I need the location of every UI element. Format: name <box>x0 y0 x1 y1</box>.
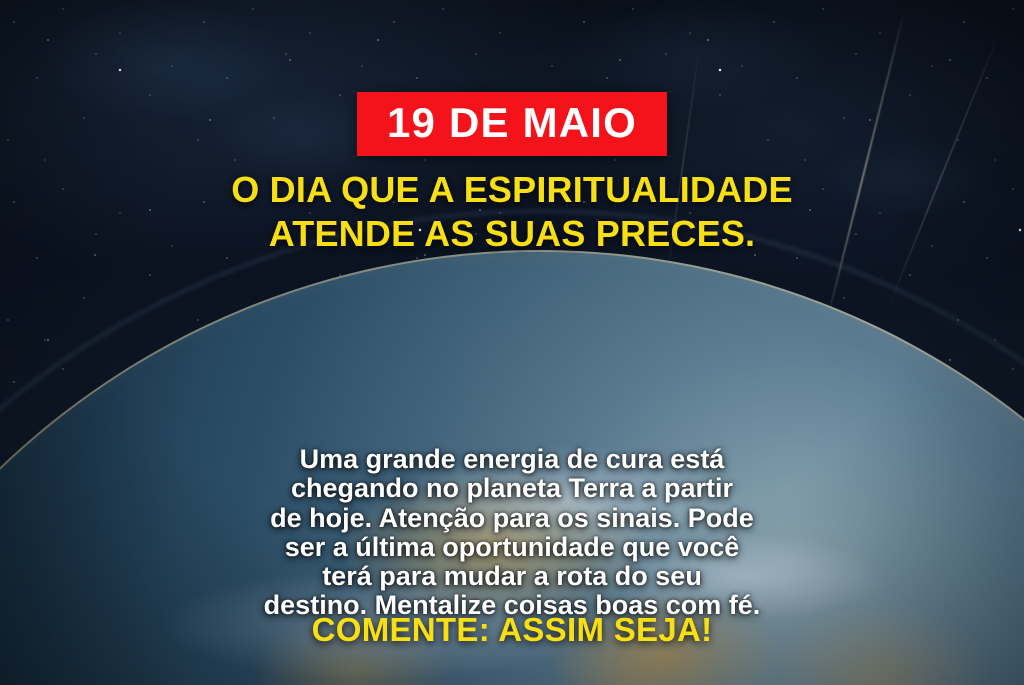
body-line-4: ser a última oportunidade que você <box>44 533 980 562</box>
body-line-5: terá para mudar a rota do seu <box>44 562 980 591</box>
call-to-action-text: COMENTE: ASSIM SEJA! <box>0 613 1024 646</box>
page-title: O DIA QUE A ESPIRITUALIDADE ATENDE AS SU… <box>0 168 1024 256</box>
body-line-2: chegando no planeta Terra a partir <box>44 474 980 503</box>
body-line-3: de hoje. Atenção para os sinais. Pode <box>44 504 980 533</box>
date-banner: 19 DE MAIO <box>357 92 667 156</box>
body-paragraph: Uma grande energia de cura está chegando… <box>0 445 1024 621</box>
date-banner-label: 19 DE MAIO <box>387 102 637 144</box>
headline-line-1: O DIA QUE A ESPIRITUALIDADE <box>40 168 984 212</box>
poster-canvas: 19 DE MAIO O DIA QUE A ESPIRITUALIDADE A… <box>0 0 1024 685</box>
poster-content: 19 DE MAIO O DIA QUE A ESPIRITUALIDADE A… <box>0 0 1024 685</box>
body-line-1: Uma grande energia de cura está <box>44 445 980 474</box>
headline-line-2: ATENDE AS SUAS PRECES. <box>40 212 984 256</box>
